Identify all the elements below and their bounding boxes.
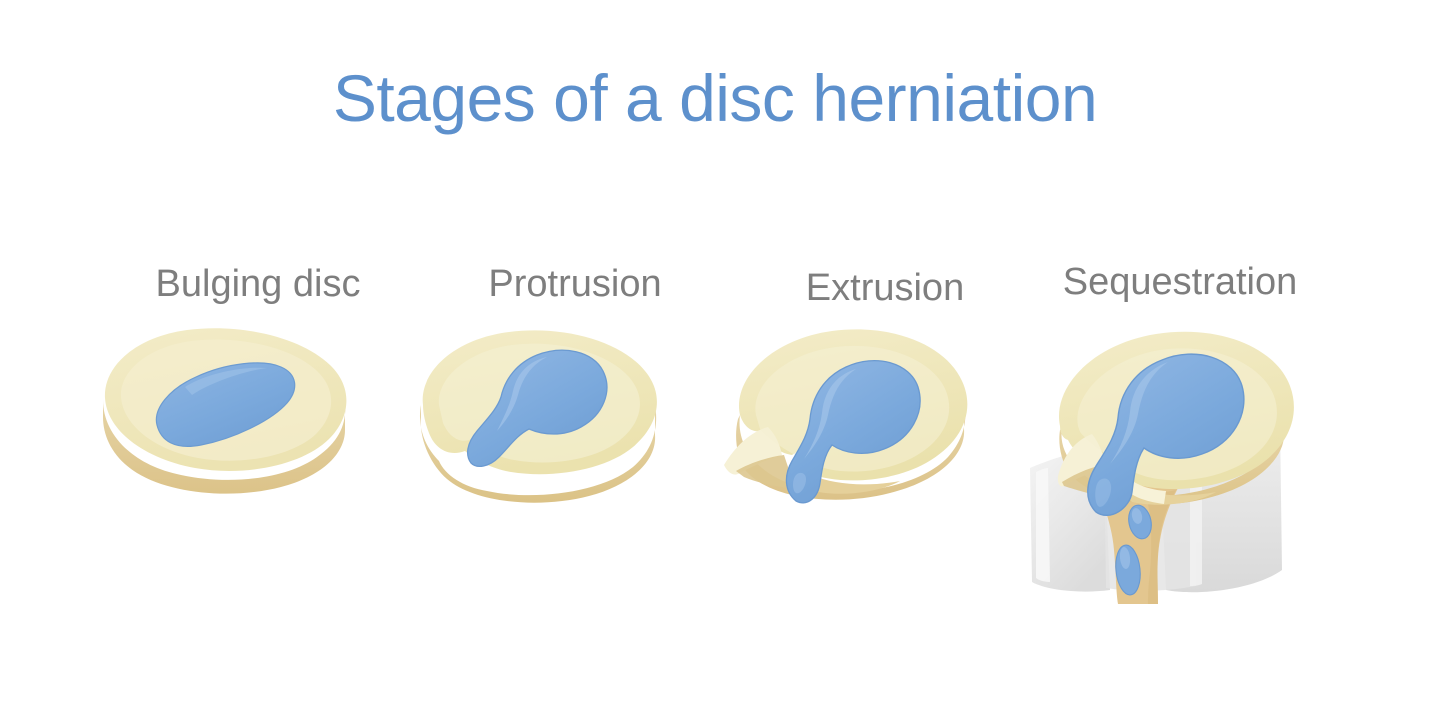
protrusion-illustration (405, 305, 675, 520)
stage-label-sequestration: Sequestration (1035, 263, 1325, 301)
bulging-disc-illustration (95, 305, 365, 515)
page-title: Stages of a disc herniation (0, 60, 1430, 136)
sequestration-illustration (1000, 300, 1320, 610)
stage-label-extrusion: Extrusion (770, 269, 1000, 307)
stage-label-protrusion: Protrusion (455, 265, 695, 303)
illustration-canvas: Stages of a disc herniation Bulging disc (0, 0, 1430, 712)
extrusion-illustration (700, 305, 980, 530)
vertebral-edge-highlight (1036, 468, 1050, 582)
stage-label-bulging-disc: Bulging disc (133, 265, 383, 303)
